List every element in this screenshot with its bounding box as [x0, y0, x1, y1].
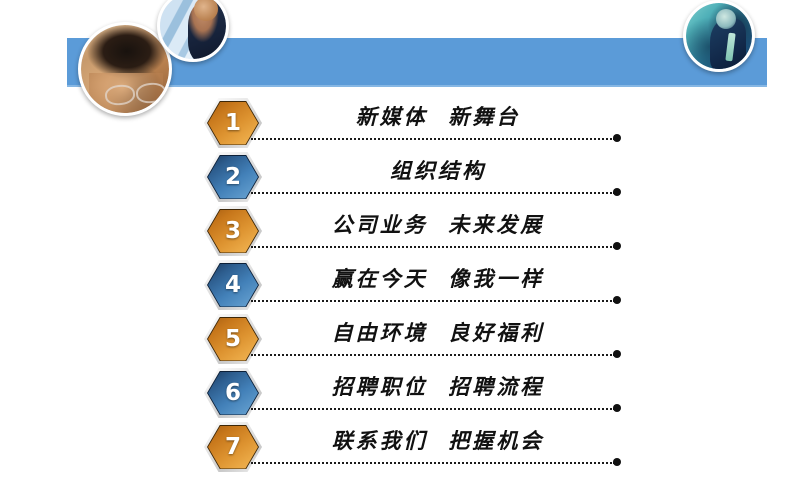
agenda-number-label: 7: [225, 436, 241, 459]
stairs-image: [160, 0, 226, 59]
agenda-row[interactable]: 5 自由环境 良好福利: [0, 312, 812, 364]
agenda-dotted-connector: [251, 138, 615, 140]
agenda-item-title: 组织结构: [262, 156, 614, 186]
agenda-number-hexagon[interactable]: 3: [204, 206, 262, 256]
agenda-connector-end-dot: [613, 134, 621, 142]
agenda-item-title: 公司业务 未来发展: [262, 210, 614, 240]
agenda-item-title: 新媒体 新舞台: [262, 102, 614, 132]
agenda-item-title: 赢在今天 像我一样: [262, 264, 614, 294]
meeting-head-shape: [716, 9, 736, 29]
agenda-dotted-connector: [251, 300, 615, 302]
agenda-number-hexagon[interactable]: 5: [204, 314, 262, 364]
agenda-item-title: 招聘职位 招聘流程: [262, 372, 614, 402]
agenda-number-label: 5: [225, 328, 241, 351]
presentation-slide: 1 新媒体 新舞台 2 组织结构 3 公司业务 未来发展: [0, 0, 812, 484]
agenda-number-label: 6: [225, 382, 241, 405]
agenda-item-title: 联系我们 把握机会: [262, 426, 614, 456]
agenda-number-label: 2: [225, 166, 241, 189]
agenda-connector-end-dot: [613, 404, 621, 412]
agenda-dotted-connector: [251, 408, 615, 410]
meeting-photo: [683, 0, 755, 72]
agenda-item-title: 自由环境 良好福利: [262, 318, 614, 348]
agenda-dotted-connector: [251, 246, 615, 248]
agenda-number-hexagon[interactable]: 2: [204, 152, 262, 202]
agenda-row[interactable]: 7 联系我们 把握机会: [0, 420, 812, 472]
agenda-connector-end-dot: [613, 296, 621, 304]
agenda-number-hexagon[interactable]: 1: [204, 98, 262, 148]
agenda-number-label: 1: [225, 112, 241, 135]
agenda-row[interactable]: 1 新媒体 新舞台: [0, 96, 812, 148]
agenda-dotted-connector: [251, 462, 615, 464]
agenda-number-label: 3: [225, 220, 241, 243]
agenda-dotted-connector: [251, 192, 615, 194]
agenda-connector-end-dot: [613, 458, 621, 466]
agenda-number-label: 4: [225, 274, 241, 297]
agenda-row[interactable]: 4 赢在今天 像我一样: [0, 258, 812, 310]
meeting-image: [686, 3, 752, 69]
agenda-row[interactable]: 3 公司业务 未来发展: [0, 204, 812, 256]
agenda-row[interactable]: 6 招聘职位 招聘流程: [0, 366, 812, 418]
agenda-connector-end-dot: [613, 188, 621, 196]
agenda-connector-end-dot: [613, 350, 621, 358]
agenda-connector-end-dot: [613, 242, 621, 250]
agenda-dotted-connector: [251, 354, 615, 356]
agenda-number-hexagon[interactable]: 7: [204, 422, 262, 472]
agenda-row[interactable]: 2 组织结构: [0, 150, 812, 202]
agenda-number-hexagon[interactable]: 4: [204, 260, 262, 310]
agenda-number-hexagon[interactable]: 6: [204, 368, 262, 418]
